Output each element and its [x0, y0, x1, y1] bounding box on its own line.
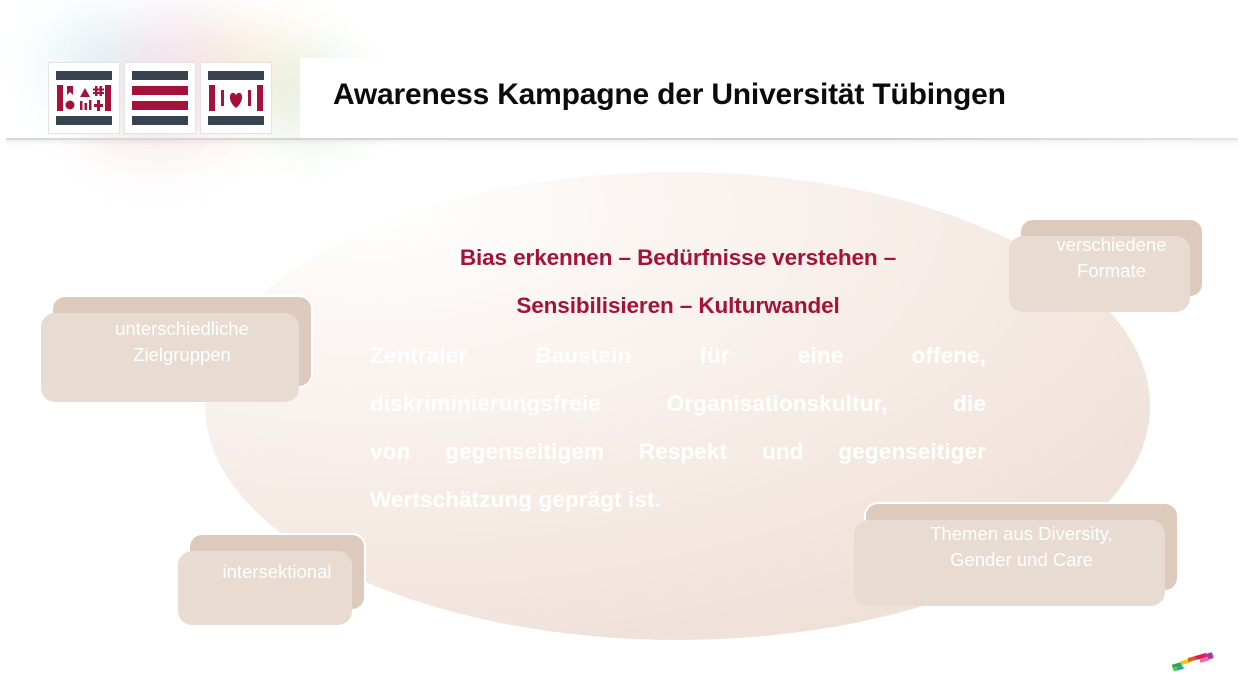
logo-bar-bottom-icon: [208, 116, 264, 125]
callout-line-1: Themen aus Diversity,: [930, 523, 1113, 544]
headline-line-2: Sensibilisieren – Kulturwandel: [370, 282, 986, 330]
header-divider: [6, 138, 1238, 140]
callout-line-2: Formate: [1077, 260, 1146, 281]
logo-bar-top-icon: [132, 71, 188, 80]
slide-header: Awareness Kampagne der Universität Tübin…: [0, 0, 1260, 140]
logo-heart-icon: [208, 83, 264, 113]
logo-tile-symbols: [48, 62, 120, 134]
callout-line-1: verschiedene: [1056, 234, 1166, 255]
university-logo: [48, 62, 272, 134]
logo-tile-heart: [200, 62, 272, 134]
body-line-2: diskriminierungsfreie Organisationskultu…: [370, 380, 986, 428]
page-title: Awareness Kampagne der Universität Tübin…: [333, 78, 1006, 112]
callout-intersektional[interactable]: intersektional: [188, 533, 366, 611]
body-line-3: von gegenseitigem Respekt und gegenseiti…: [370, 428, 986, 476]
logo-symbols-icon: [56, 83, 112, 113]
rainbow-swoosh-logo-icon: [1168, 647, 1224, 677]
callout-line-1: intersektional: [222, 559, 331, 585]
callout-line-2: Gender und Care: [950, 549, 1093, 570]
callout-verschiedene-formate[interactable]: verschiedene Formate: [1019, 218, 1204, 298]
slide-canvas: Awareness Kampagne der Universität Tübin…: [0, 0, 1260, 691]
callout-line-2: Zielgruppen: [133, 344, 231, 365]
body-line-1: Zentraler Baustein für eine offene,: [370, 332, 986, 380]
logo-bar-top-icon: [208, 71, 264, 80]
logo-tile-stripes: [124, 62, 196, 134]
logo-bar-bottom-icon: [132, 116, 188, 125]
logo-bar-top-icon: [56, 71, 112, 80]
central-message: Bias erkennen – Bedürfnisse verstehen – …: [370, 234, 986, 524]
logo-stripes-icon: [132, 83, 188, 113]
headline-line-1: Bias erkennen – Bedürfnisse verstehen –: [370, 234, 986, 282]
logo-bar-bottom-icon: [56, 116, 112, 125]
callout-themen-diversity-gender-care[interactable]: Themen aus Diversity, Gender und Care: [864, 502, 1179, 592]
callout-unterschiedliche-zielgruppen[interactable]: unterschiedliche Zielgruppen: [51, 295, 313, 388]
callout-line-1: unterschiedliche: [115, 318, 249, 339]
header-rule-shadow: [6, 140, 1238, 146]
